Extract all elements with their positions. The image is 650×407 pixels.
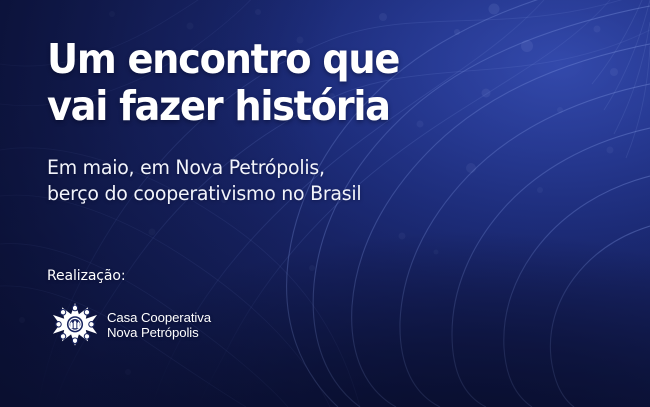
subheadline: Em maio, em Nova Petrópolis, berço do co… xyxy=(47,155,361,207)
promo-banner: Um encontro que vai fazer história Em ma… xyxy=(0,0,650,407)
realization-label: Realização: xyxy=(47,268,125,284)
headline: Um encontro que vai fazer história xyxy=(47,36,399,130)
sponsor-logo-lockup: Casa Cooperativa Nova Petrópolis xyxy=(52,302,211,348)
sponsor-logo-wordmark: Casa Cooperativa Nova Petrópolis xyxy=(107,310,211,341)
banner-content: Um encontro que vai fazer história Em ma… xyxy=(47,0,567,407)
casa-cooperativa-star-icon xyxy=(52,302,98,348)
